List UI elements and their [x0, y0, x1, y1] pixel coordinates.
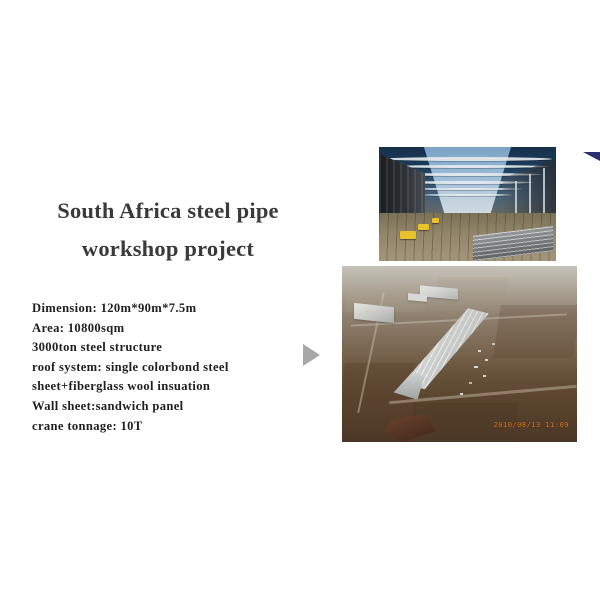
chevron-corner-icon [583, 152, 600, 169]
spec-line-crane: crane tonnage: 10T [32, 417, 302, 437]
slide-canvas: South Africa steel pipe workshop project… [0, 0, 600, 600]
atmospheric-haze [342, 266, 577, 442]
page-title-line-2: workshop project [18, 230, 318, 268]
interior-scene [379, 147, 556, 261]
spec-line-roof-system: roof system: single colorbond steel [32, 358, 302, 378]
photo-timestamp-watermark: 2010/08/13 11:09 [494, 421, 569, 429]
page-title-line-1: South Africa steel pipe [18, 192, 318, 230]
page-title: South Africa steel pipe workshop project [18, 192, 318, 268]
spec-line-wall-sheet: Wall sheet:sandwich panel [32, 397, 302, 417]
spec-line-tonnage: 3000ton steel structure [32, 338, 302, 358]
spec-line-insulation: sheet+fiberglass wool insuation [32, 377, 302, 397]
photo-aerial-site-view: 2010/08/13 11:09 [341, 265, 578, 443]
construction-machine [418, 224, 429, 230]
roof-truss [383, 157, 553, 161]
roof-truss [423, 194, 512, 196]
aerial-scene: 2010/08/13 11:09 [342, 266, 577, 442]
construction-machine [432, 218, 439, 223]
photo-workshop-interior [378, 146, 557, 262]
spec-line-dimension: Dimension: 120m*90m*7.5m [32, 299, 302, 319]
spec-line-area: Area: 10800sqm [32, 319, 302, 339]
play-triangle-right-icon [303, 344, 320, 366]
construction-machine [400, 231, 416, 239]
specification-list: Dimension: 120m*90m*7.5m Area: 10800sqm … [32, 299, 302, 436]
